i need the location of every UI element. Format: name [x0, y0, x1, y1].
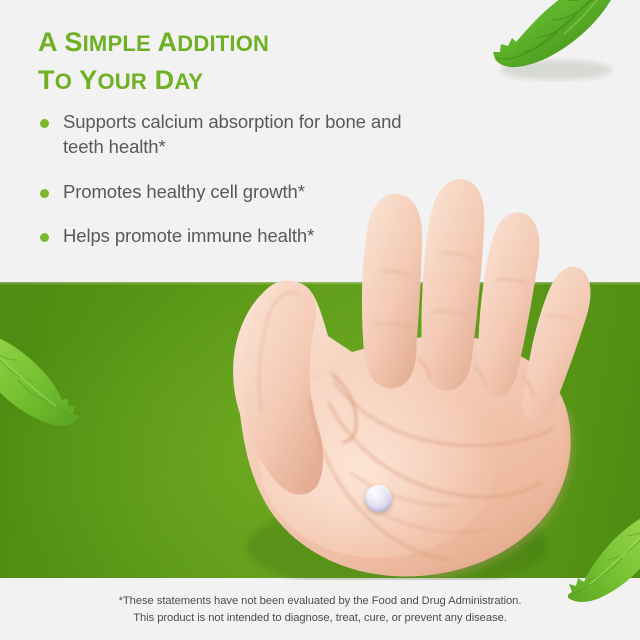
benefit-text: Promotes healthy cell growth*: [63, 181, 305, 202]
title-l1-p4: A: [151, 27, 177, 57]
title-l2-p4: OUR: [97, 69, 147, 94]
title-line-1: A SIMPLE ADDITION: [38, 22, 458, 60]
disclaimer-line-2: This product is not intended to diagnose…: [0, 610, 640, 627]
title-l1-p5: DDITION: [177, 31, 269, 56]
list-item: Supports calcium absorption for bone and…: [38, 110, 438, 160]
disclaimer-line-1: *These statements have not been evaluate…: [0, 593, 640, 610]
bullet-dot-icon: [40, 233, 49, 242]
product-benefits-banner: A SIMPLE ADDITION TO YOUR DAY Supports c…: [0, 0, 640, 640]
title-l1-p3: IMPLE: [83, 31, 151, 56]
title-l2-p1: T: [38, 65, 55, 95]
benefit-text: Supports calcium absorption for bone and…: [63, 111, 401, 157]
title-l1-p1: A: [38, 27, 57, 57]
fda-disclaimer: *These statements have not been evaluate…: [0, 593, 640, 627]
title-l2-p2: O: [55, 69, 72, 94]
list-item: Helps promote immune health*: [38, 224, 438, 249]
title-line-2: TO YOUR DAY: [38, 60, 458, 98]
title-l1-p2: S: [57, 27, 83, 57]
title-l2-p3: Y: [72, 65, 97, 95]
benefit-text: Helps promote immune health*: [63, 225, 314, 246]
bullet-dot-icon: [40, 119, 49, 128]
leaf-left-icon: [0, 322, 94, 442]
list-item: Promotes healthy cell growth*: [38, 180, 438, 205]
benefits-list: Supports calcium absorption for bone and…: [38, 110, 438, 263]
bullet-dot-icon: [40, 189, 49, 198]
tablet-pill: [365, 485, 392, 512]
page-title: A SIMPLE ADDITION TO YOUR DAY: [38, 22, 458, 98]
title-l2-p5: D: [147, 65, 174, 95]
title-l2-p6: AY: [174, 69, 203, 94]
leaf-top-right-icon: [468, 0, 640, 88]
